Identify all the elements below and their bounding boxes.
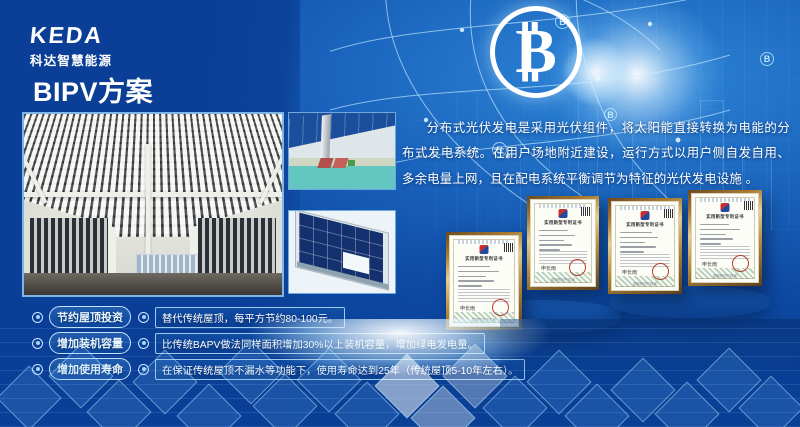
certificate-signature: 申长雨 (702, 261, 717, 268)
certificate-footer: 国家知识产权局 (692, 273, 758, 278)
certificate-footer: 国家知识产权局 (612, 281, 678, 286)
bitcoin-logo: ₿ (490, 6, 582, 98)
bitcoin-mini-icon: B (760, 52, 774, 66)
page-title: BIPV方案 (33, 70, 153, 109)
patent-certificate: 实用新型专利证书 申长雨 国家知识产权局 (527, 196, 599, 290)
certificate-signature: 申长雨 (622, 269, 637, 276)
patent-certificate: 实用新型专利证书 申长雨 国家知识产权局 (446, 232, 522, 330)
logo-mark-text: KEDA (29, 24, 114, 47)
intro-paragraph: 分布式光伏发电是采用光伏组件，将太阳能直接转换为电能的分布式发电系统。在用户场地… (402, 116, 790, 192)
bottom-tile-floor (0, 319, 800, 427)
certificate-footer: 国家知识产权局 (531, 277, 595, 282)
certificate-signature: 申长雨 (541, 265, 556, 272)
certificate-title: 实用新型专利证书 (531, 220, 595, 226)
patent-certificate: 实用新型专利证书 申长雨 国家知识产权局 (608, 198, 682, 294)
patent-certificate: 实用新型专利证书 申长雨 国家知识产权局 (688, 190, 762, 286)
brand-logo: KEDA 科达智慧能源 (30, 24, 112, 69)
certificate-title: 实用新型专利证书 (612, 222, 678, 228)
certificate-title: 实用新型专利证书 (450, 256, 518, 262)
bitcoin-symbol: ₿ (515, 21, 556, 83)
logo-subtitle-text: 科达智慧能源 (30, 50, 112, 69)
bipv-skylight-photo (22, 112, 284, 297)
poster-stage: B B B B ₿ KEDA 科达智慧能源 BIPV方案 (0, 0, 800, 427)
pv-roof-array-diagram (288, 210, 396, 294)
mounting-detail-diagram (288, 112, 396, 190)
certificate-title: 实用新型专利证书 (692, 214, 758, 220)
certificate-signature: 申长雨 (460, 305, 475, 312)
